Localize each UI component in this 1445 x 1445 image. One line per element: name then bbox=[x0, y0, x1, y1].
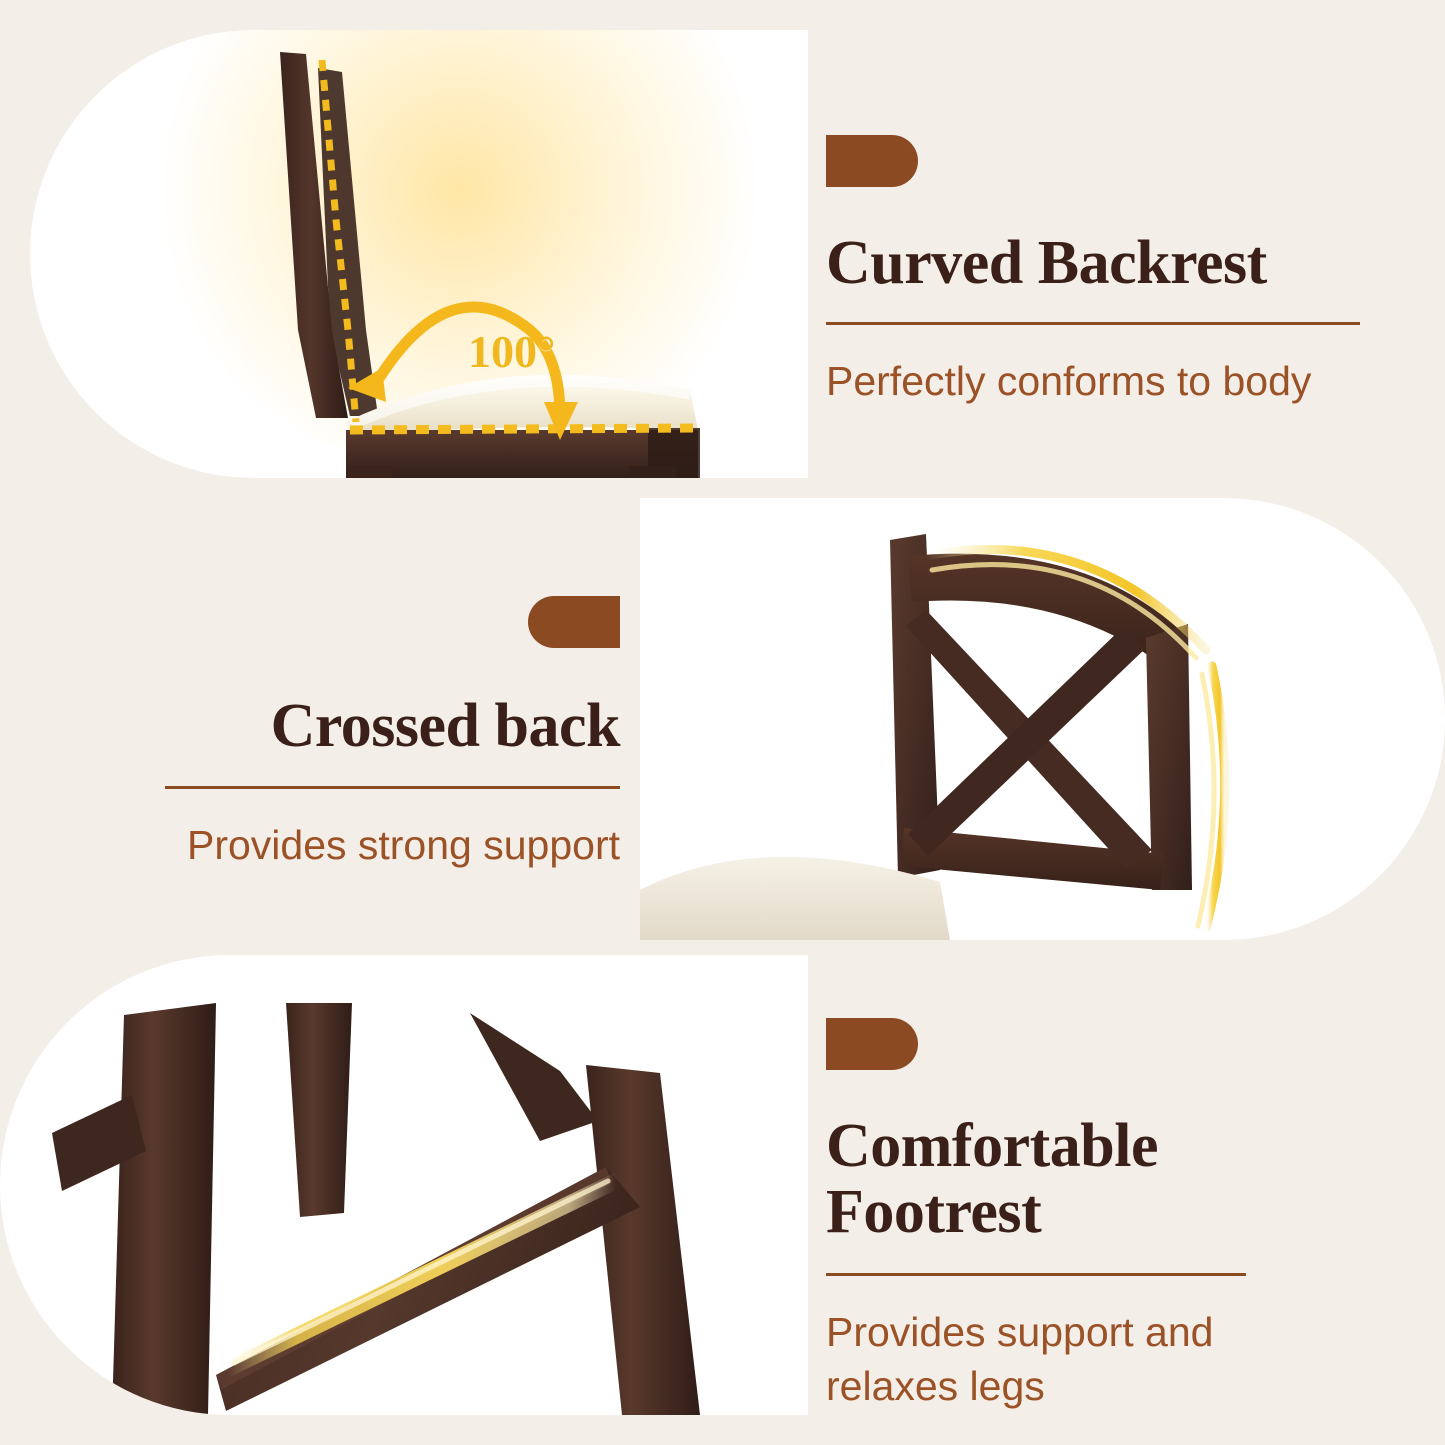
feature-subtitle-3-line-2: relaxes legs bbox=[826, 1363, 1045, 1409]
accent-badge-1 bbox=[826, 135, 918, 187]
feature-title-3-line-2: Footrest bbox=[826, 1178, 1041, 1246]
feature-image-crossed-back bbox=[640, 498, 1445, 940]
feature-image-footrest bbox=[0, 955, 808, 1415]
accent-badge-2 bbox=[528, 596, 620, 648]
feature-text-curved-backrest: Curved Backrest Perfectly conforms to bo… bbox=[826, 135, 1366, 408]
feature-text-crossed-back: Crossed back Provides strong support bbox=[165, 596, 620, 872]
accent-badge-3 bbox=[826, 1018, 918, 1070]
chair-crossed-back-illustration bbox=[640, 498, 1445, 940]
feature-subtitle-3: Provides support and relaxes legs bbox=[826, 1306, 1246, 1413]
feature-image-curved-backrest: 100° bbox=[30, 30, 808, 478]
divider-2 bbox=[165, 786, 620, 789]
feature-subtitle-1: Perfectly conforms to body bbox=[826, 355, 1366, 408]
divider-3 bbox=[826, 1273, 1246, 1276]
chair-side-profile-illustration bbox=[30, 30, 808, 478]
angle-callout-label: 100° bbox=[468, 325, 555, 378]
chair-footrest-illustration bbox=[0, 955, 808, 1415]
feature-subtitle-2: Provides strong support bbox=[165, 819, 620, 872]
feature-text-footrest: Comfortable Footrest Provides support an… bbox=[826, 1018, 1246, 1413]
feature-title-1: Curved Backrest bbox=[826, 231, 1366, 297]
feature-title-2: Crossed back bbox=[165, 694, 620, 760]
divider-1 bbox=[826, 322, 1360, 325]
feature-title-3-line-1: Comfortable bbox=[826, 1112, 1158, 1180]
infographic-canvas: 100° bbox=[0, 0, 1445, 1445]
feature-subtitle-3-line-1: Provides support and bbox=[826, 1309, 1213, 1355]
feature-title-3: Comfortable Footrest bbox=[826, 1114, 1246, 1245]
